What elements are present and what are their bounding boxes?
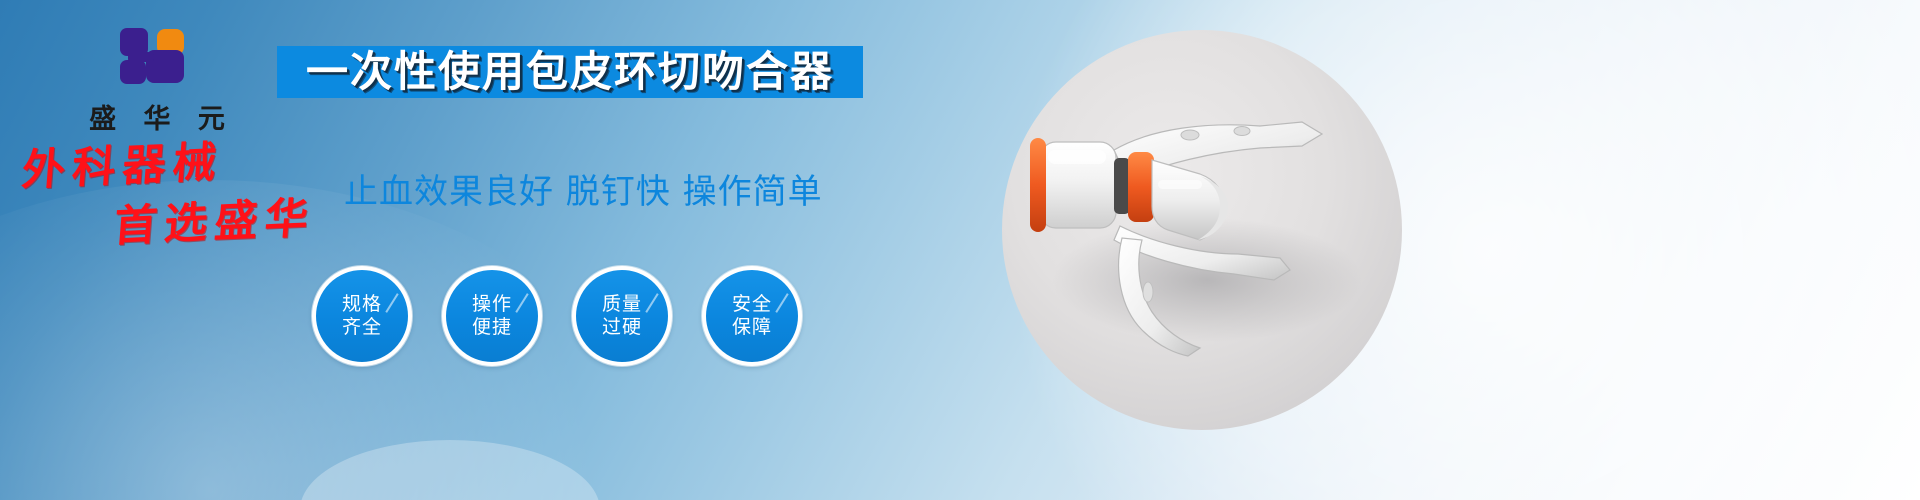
feature-badge-line-2: 便捷 [472,316,512,339]
feature-badge-line-1: 质量 [602,293,642,316]
slash-decoration-icon [775,293,788,313]
product-subtitle: 止血效果良好 脱钉快 操作简单 [344,164,823,213]
feature-badge-line-1: 安全 [732,293,772,316]
brand-name: 盛 华 元 [62,97,252,136]
slash-decoration-icon [515,293,528,313]
feature-badge-safety[interactable]: 安全 保障 [702,266,802,366]
slash-decoration-icon [385,293,398,313]
feature-badge-list: 规格 齐全 操作 便捷 质量 过硬 安全 保障 [312,266,802,366]
feature-badge-line-2: 齐全 [342,316,382,339]
logo-mark-icon [116,28,198,90]
calligraphy-slogan: 外科器械 首选盛华 [22,150,352,249]
feature-badge-specifications[interactable]: 规格 齐全 [312,266,412,366]
brand-logo[interactable]: 盛 华 元 [62,28,252,136]
feature-badge-quality[interactable]: 质量 过硬 [572,266,672,366]
product-image-circle [1002,30,1402,430]
calligraphy-line-2: 首选盛华 [112,197,316,249]
feature-badge-line-1: 操作 [472,293,512,316]
logo-square-bottom-left [120,60,146,84]
feature-badge-line-2: 过硬 [602,316,642,339]
bottom-arc-decoration [300,440,600,500]
slash-decoration-icon [645,293,658,313]
product-title: 一次性使用包皮环切吻合器 [306,51,834,93]
promo-banner: 盛 华 元 一次性使用包皮环切吻合器 外科器械 首选盛华 止血效果良好 脱钉快 … [0,0,1920,500]
product-illustration [1002,30,1402,430]
calligraphy-line-1: 外科器械 [20,141,224,193]
logo-connector-bar [128,52,154,62]
feature-badge-line-1: 规格 [342,293,382,316]
feature-badge-operation[interactable]: 操作 便捷 [442,266,542,366]
product-title-bar: 一次性使用包皮环切吻合器 [277,46,863,98]
feature-badge-line-2: 保障 [732,316,772,339]
